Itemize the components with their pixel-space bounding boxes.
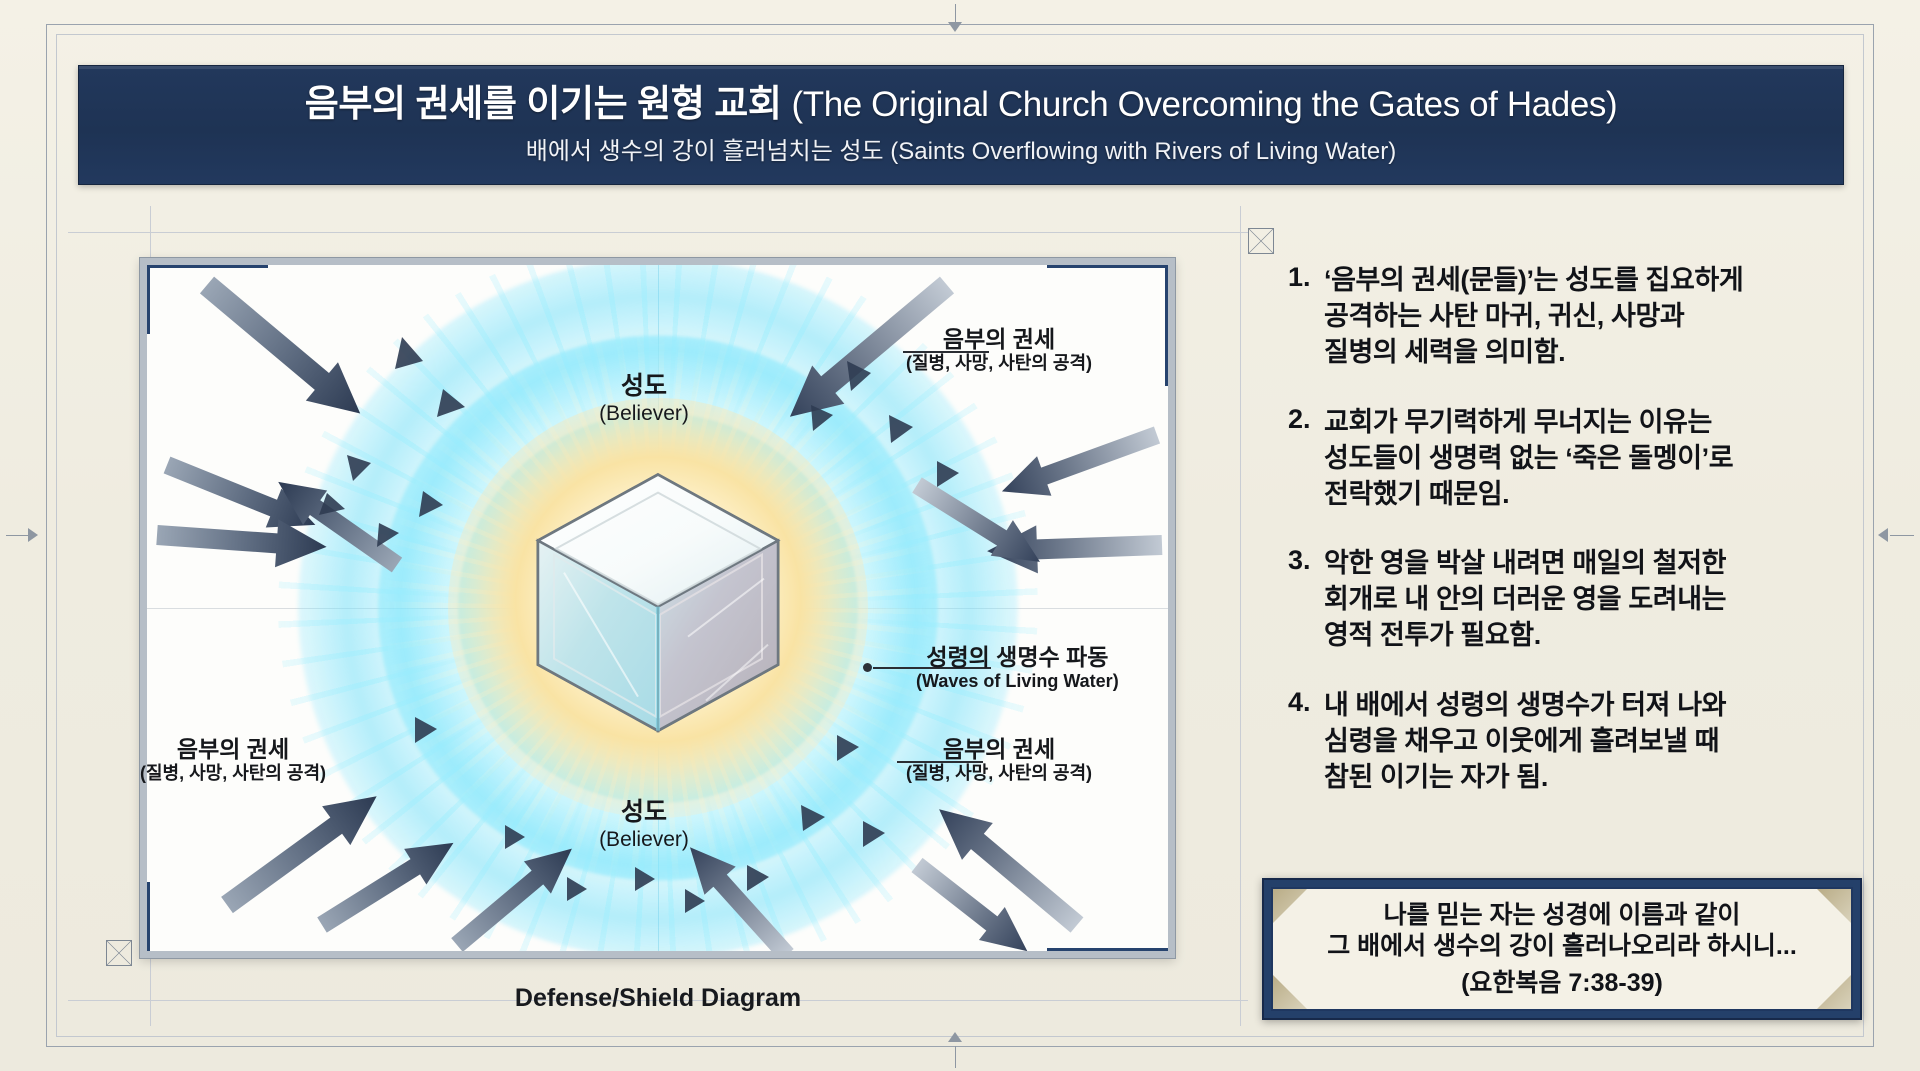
note-line: ‘음부의 권세(문들)’는 성도를 집요하게 xyxy=(1324,262,1743,298)
note-line: 악한 영을 박살 내려면 매일의 철저한 xyxy=(1324,545,1726,581)
note-item: 2. 교회가 무기력하게 무너지는 이유는 성도들이 생명력 없는 ‘죽은 돌멩… xyxy=(1288,404,1868,513)
registration-mark-icon xyxy=(1248,228,1274,254)
note-line: 성도들이 생명력 없는 ‘죽은 돌멩이’로 xyxy=(1324,440,1733,476)
note-number: 3. xyxy=(1288,545,1324,654)
label-gates-top-right: 음부의 권세 (질병, 사망, 사탄의 공격) xyxy=(906,326,1092,374)
tick-arrow-left-icon xyxy=(28,528,38,542)
tick-left xyxy=(6,535,30,536)
label-waves-of-living-water: 성령의 생명수 파동 (Waves of Living Water) xyxy=(916,644,1119,692)
label-text-en: (질병, 사망, 사탄의 공격) xyxy=(906,353,1092,374)
label-text-en: (Believer) xyxy=(554,828,734,853)
plaque-corner-icon xyxy=(1817,889,1851,923)
label-text-ko: 성도 xyxy=(554,372,734,402)
label-text-ko: 음부의 권세 xyxy=(906,326,1092,353)
scripture-inner: 나를 믿는 자는 성경에 이름과 같이 그 배에서 생수의 강이 흘러나오리라 … xyxy=(1271,887,1853,1011)
note-number: 4. xyxy=(1288,687,1324,796)
note-item: 3. 악한 영을 박살 내려면 매일의 철저한 회개로 내 안의 더러운 영을 … xyxy=(1288,545,1868,654)
note-line: 영적 전투가 필요함. xyxy=(1324,617,1726,653)
label-gates-bottom-right: 음부의 권세 (질병, 사망, 사탄의 공격) xyxy=(906,736,1092,784)
notes-list: 1. ‘음부의 권세(문들)’는 성도를 집요하게 공격하는 사탄 마귀, 귀신… xyxy=(1288,262,1868,828)
tick-arrow-top-icon xyxy=(948,22,962,32)
diagram-caption: Defense/Shield Diagram xyxy=(68,984,1248,1013)
tick-right xyxy=(1890,535,1914,536)
tick-arrow-right-icon xyxy=(1878,528,1888,542)
title-korean: 음부의 권세를 이기는 원형 교회 xyxy=(305,83,782,124)
note-line: 공격하는 사탄 마귀, 귀신, 사망과 xyxy=(1324,298,1743,334)
label-believer-top: 성도 (Believer) xyxy=(554,372,734,426)
note-body: ‘음부의 권세(문들)’는 성도를 집요하게 공격하는 사탄 마귀, 귀신, 사… xyxy=(1324,262,1743,371)
note-line: 참된 이기는 자가 됨. xyxy=(1324,759,1726,795)
note-line: 교회가 무기력하게 무너지는 이유는 xyxy=(1324,404,1733,440)
note-item: 4. 내 배에서 성령의 생명수가 터져 나와 심령을 채우고 이웃에게 흘려보… xyxy=(1288,687,1868,796)
note-line: 내 배에서 성령의 생명수가 터져 나와 xyxy=(1324,687,1726,723)
tick-bottom xyxy=(955,1046,956,1068)
note-body: 악한 영을 박살 내려면 매일의 철저한 회개로 내 안의 더러운 영을 도려내… xyxy=(1324,545,1726,654)
plaque-corner-icon xyxy=(1273,975,1307,1009)
plaque-corner-icon xyxy=(1817,975,1851,1009)
note-body: 교회가 무기력하게 무너지는 이유는 성도들이 생명력 없는 ‘죽은 돌멩이’로… xyxy=(1324,404,1733,513)
plaque-corner-icon xyxy=(1273,889,1307,923)
label-gates-bottom-left: 음부의 권세 (질병, 사망, 사탄의 공격) xyxy=(140,736,326,784)
note-line: 전락했기 때문임. xyxy=(1324,476,1733,512)
label-text-ko: 성령의 생명수 파동 xyxy=(916,644,1119,671)
label-text-en: (Believer) xyxy=(554,402,734,427)
note-line: 회개로 내 안의 더러운 영을 도려내는 xyxy=(1324,581,1726,617)
note-number: 2. xyxy=(1288,404,1324,513)
note-body: 내 배에서 성령의 생명수가 터져 나와 심령을 채우고 이웃에게 흘려보낼 때… xyxy=(1324,687,1726,796)
note-number: 1. xyxy=(1288,262,1324,371)
note-item: 1. ‘음부의 권세(문들)’는 성도를 집요하게 공격하는 사탄 마귀, 귀신… xyxy=(1288,262,1868,371)
scripture-line-1: 나를 믿는 자는 성경에 이름과 같이 xyxy=(1384,900,1741,932)
label-text-ko: 음부의 권세 xyxy=(906,736,1092,763)
label-text-en: (질병, 사망, 사탄의 공격) xyxy=(140,763,326,784)
scripture-plaque: 나를 믿는 자는 성경에 이름과 같이 그 배에서 생수의 강이 흘러나오리라 … xyxy=(1262,878,1862,1020)
scripture-reference: (요한복음 7:38-39) xyxy=(1461,963,1663,999)
page-title: 음부의 권세를 이기는 원형 교회 (The Original Church O… xyxy=(305,84,1618,125)
label-text-ko: 음부의 권세 xyxy=(140,736,326,763)
title-banner: 음부의 권세를 이기는 원형 교회 (The Original Church O… xyxy=(78,65,1844,185)
note-line: 심령을 채우고 이웃에게 흘려보낼 때 xyxy=(1324,723,1726,759)
page-subtitle: 배에서 생수의 강이 흘러넘치는 성도 (Saints Overflowing … xyxy=(526,131,1396,166)
label-text-ko: 성도 xyxy=(554,798,734,828)
tick-arrow-bottom-icon xyxy=(948,1032,962,1042)
diagram-zone: 음부의 권세 (질병, 사망, 사탄의 공격) 성도 (Believer) 성도… xyxy=(68,206,1248,1026)
title-english: (The Original Church Overcoming the Gate… xyxy=(791,85,1617,124)
leader-dot-waves xyxy=(863,663,872,672)
label-text-en: (질병, 사망, 사탄의 공격) xyxy=(906,763,1092,784)
label-text-en: (Waves of Living Water) xyxy=(916,671,1119,692)
scripture-line-2: 그 배에서 생수의 강이 흘러나오리라 하시니... xyxy=(1327,931,1797,963)
label-believer-bottom: 성도 (Believer) xyxy=(554,798,734,852)
note-line: 질병의 세력을 의미함. xyxy=(1324,334,1743,370)
